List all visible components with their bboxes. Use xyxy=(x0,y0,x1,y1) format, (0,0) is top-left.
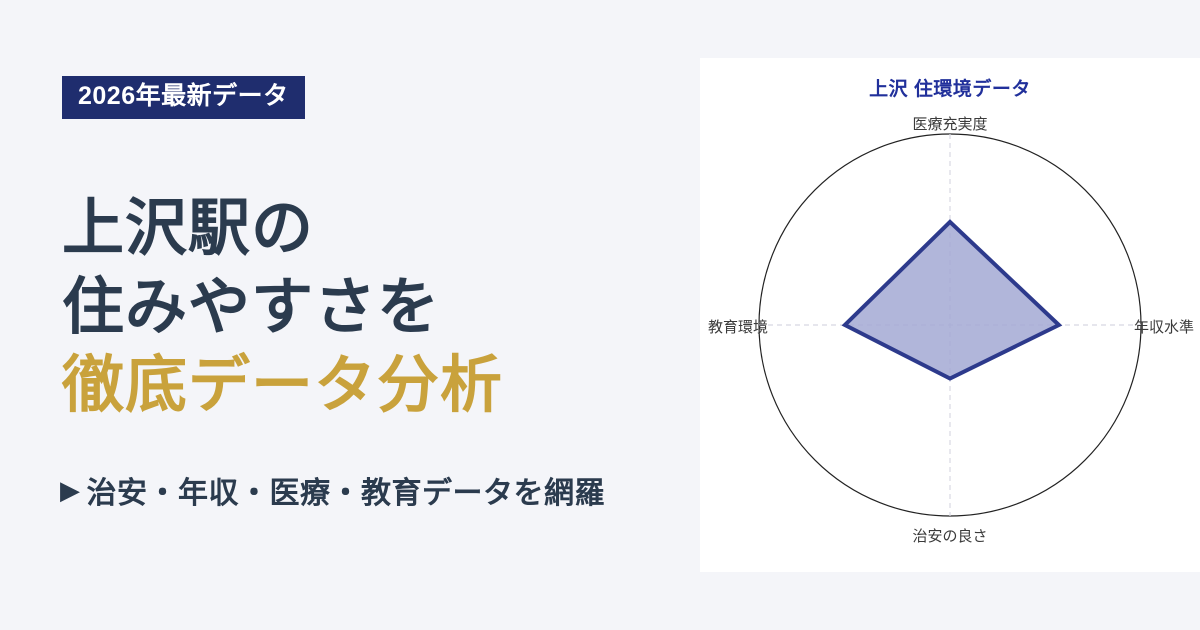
left-content-column: 2026年最新データ 上沢駅の 住みやすさを 徹底データ分析 ▶ 治安・年収・医… xyxy=(0,0,700,630)
headline-line-1: 上沢駅の xyxy=(62,190,682,269)
page-title: 上沢駅の 住みやすさを 徹底データ分析 xyxy=(62,190,682,426)
radar-chart-svg xyxy=(700,58,1200,572)
axis-label-education: 教育環境 xyxy=(708,316,768,337)
subtitle-text: 治安・年収・医療・教育データを網羅 xyxy=(87,468,606,512)
axis-label-income: 年収水準 xyxy=(1134,316,1194,337)
subtitle: ▶ 治安・年収・医療・教育データを網羅 xyxy=(60,468,605,512)
latest-data-badge: 2026年最新データ xyxy=(62,76,305,119)
axis-label-medical: 医療充実度 xyxy=(700,113,1200,134)
triangle-bullet-icon: ▶ xyxy=(60,477,81,503)
infographic-root: 2026年最新データ 上沢駅の 住みやすさを 徹底データ分析 ▶ 治安・年収・医… xyxy=(0,0,1200,630)
radar-data-polygon xyxy=(845,222,1059,379)
radar-chart-panel: 上沢 住環境データ 医療充実度 年収水準 治安の良さ 教育環境 xyxy=(700,58,1200,572)
headline-line-3-accent: 徹底データ分析 xyxy=(62,347,682,426)
headline-line-2: 住みやすさを xyxy=(62,269,682,348)
axis-label-safety: 治安の良さ xyxy=(700,525,1200,546)
